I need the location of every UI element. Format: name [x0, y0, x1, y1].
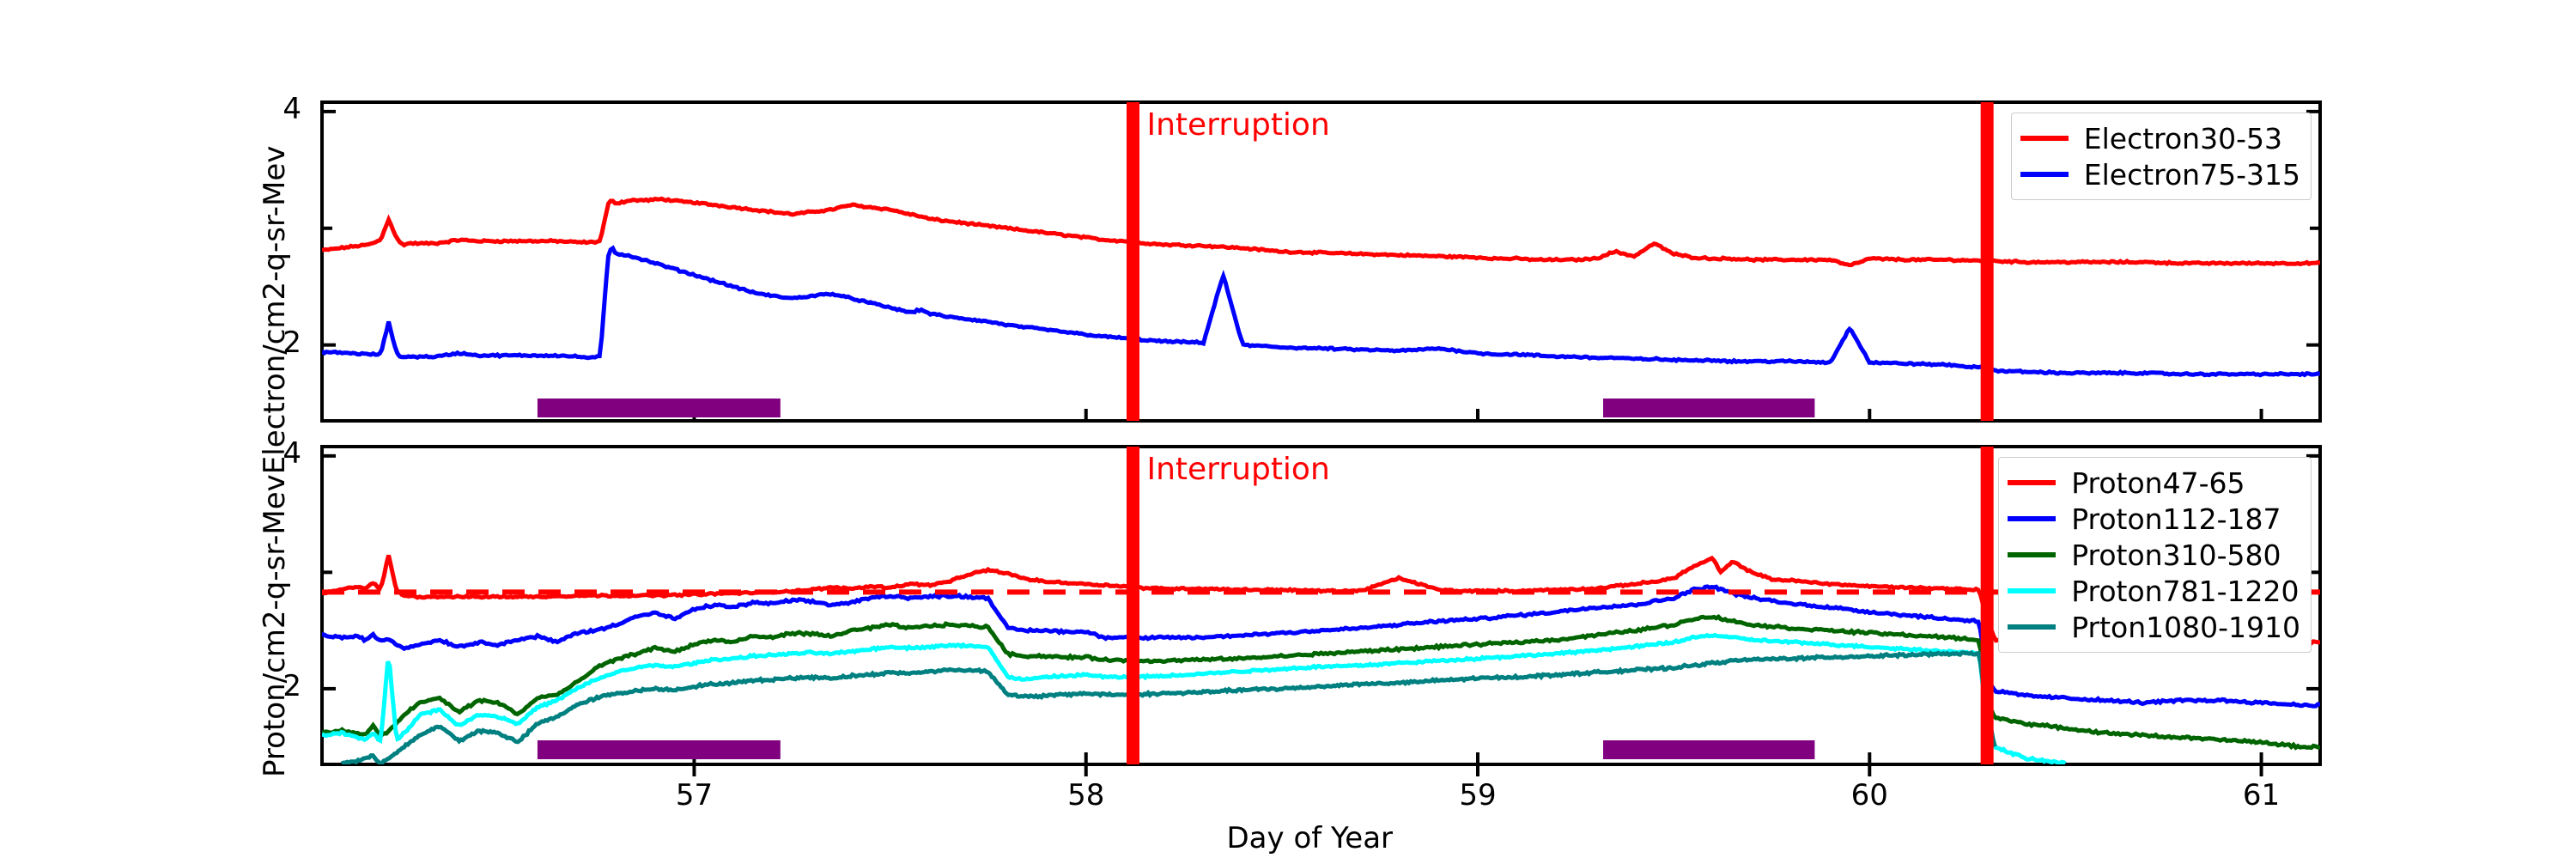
y-tick-label: 2 [253, 326, 301, 360]
legend-color-swatch [2008, 516, 2056, 521]
legend-item[interactable]: Proton310-580 [2008, 537, 2300, 573]
interruption-label-bottom: Interruption [1146, 452, 1329, 487]
x-tick-label: 60 [1835, 778, 1904, 812]
legend-label: Prton1080-1910 [2071, 613, 2300, 642]
shaded-interval-bar [538, 740, 781, 759]
x-tick-label: 57 [659, 778, 728, 812]
legend-item[interactable]: Proton47-65 [2008, 465, 2300, 501]
legend-label: Proton47-65 [2071, 469, 2245, 497]
shaded-interval-bar [1603, 740, 1814, 759]
legend-label: Proton112-187 [2071, 505, 2281, 533]
legend-item[interactable]: Proton781-1220 [2008, 573, 2300, 609]
y-tick-label: 2 [253, 669, 301, 703]
legend-label: Electron30-53 [2084, 125, 2282, 153]
x-tick-label: 58 [1052, 778, 1121, 812]
legend-proton[interactable]: Proton47-65Proton112-187Proton310-580Pro… [1998, 457, 2312, 653]
legend-item[interactable]: Electron30-53 [2020, 120, 2300, 156]
series-line-electron75-315 [322, 248, 2320, 375]
y-tick-label: 4 [253, 436, 301, 471]
legend-item[interactable]: Electron75-315 [2020, 156, 2300, 192]
legend-item[interactable]: Proton112-187 [2008, 501, 2300, 537]
shaded-interval-bar [538, 399, 781, 417]
legend-item[interactable]: Prton1080-1910 [2008, 609, 2300, 645]
legend-color-swatch [2008, 480, 2056, 485]
legend-color-swatch [2008, 588, 2056, 593]
legend-electron[interactable]: Electron30-53Electron75-315 [2011, 113, 2312, 200]
legend-color-swatch [2020, 172, 2069, 177]
legend-color-swatch [2008, 624, 2056, 630]
legend-color-swatch [2008, 552, 2056, 557]
legend-color-swatch [2020, 136, 2069, 141]
x-tick-label: 59 [1443, 778, 1512, 812]
shaded-interval-bar [1603, 399, 1814, 417]
interruption-label-top: Interruption [1146, 107, 1329, 143]
legend-label: Proton310-580 [2071, 541, 2281, 569]
figure-canvas: Proton/cm2-q-sr-MevElectron/cm2-q-sr-Mev… [0, 0, 2576, 858]
y-tick-label: 4 [253, 92, 301, 126]
x-tick-label: 61 [2227, 778, 2296, 812]
legend-label: Electron75-315 [2084, 161, 2300, 189]
legend-label: Proton781-1220 [2071, 577, 2299, 605]
